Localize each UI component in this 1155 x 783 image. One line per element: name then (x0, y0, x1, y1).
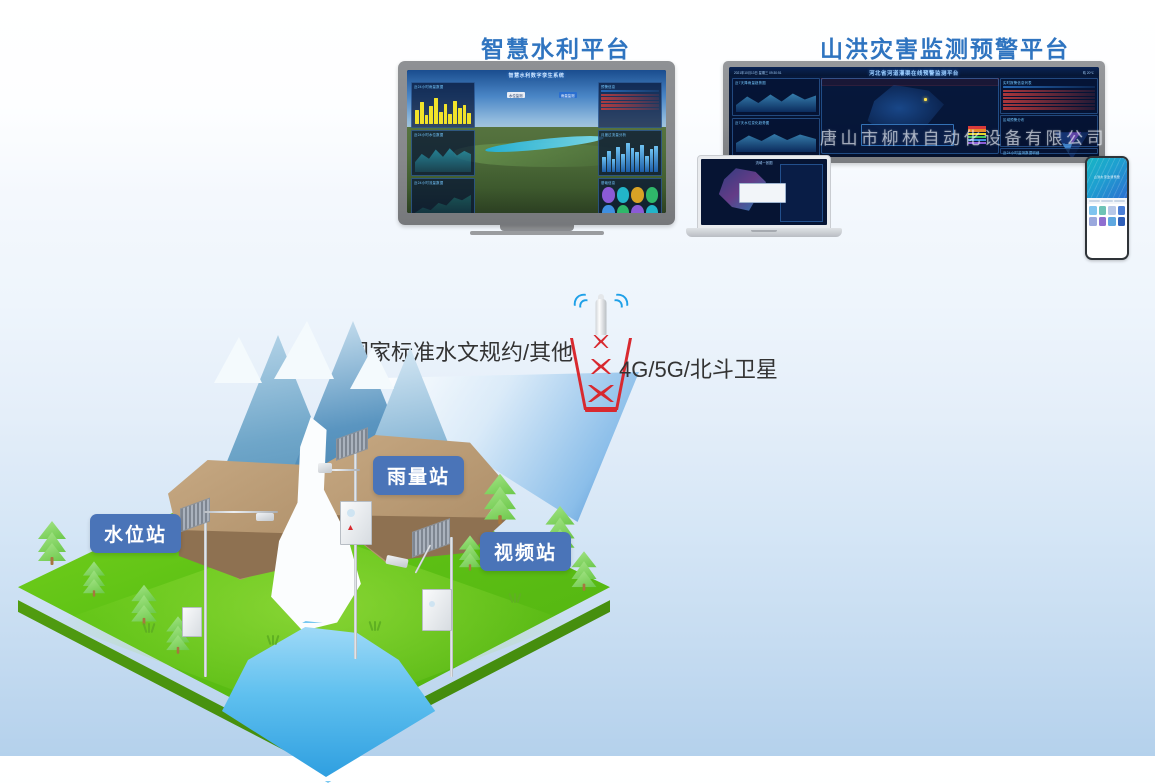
laptop-trackpad-notch (751, 230, 777, 232)
table-row[interactable] (601, 97, 659, 99)
monitor-right: 河北省河道灌渠在线预警监测平台 2021年10月13日 星期三 09:30:51… (723, 61, 1105, 163)
snow-cap-left (214, 337, 262, 383)
panel-waterlevel-24h[interactable]: 近24小时水位数据 (411, 130, 475, 176)
monitor-right-left-column: 近7天降雨量趋势图 近7天水位变化趋势图 (732, 78, 818, 154)
panel-rainfall-24h-title: 近24小时雨量数据 (414, 84, 443, 89)
info-icon-8[interactable] (646, 205, 659, 214)
tree (83, 561, 105, 596)
phone-app-header: 山洪灾害监测预警 (1087, 158, 1127, 198)
carrier-label: 4G/5G/北斗卫星 (619, 352, 778, 384)
panel-level-7d[interactable]: 近7天水位变化趋势图 (732, 118, 820, 156)
level-7d-area-chart (736, 127, 816, 152)
infographic-canvas: 智慧水利平台 山洪灾害监测预警平台 智慧水利数字孪生系统 近24小时雨量数据 (0, 0, 1155, 756)
monitor-left-foot (470, 231, 604, 235)
info-icon-2[interactable] (617, 187, 630, 203)
panel-realtime-alarm-list[interactable]: 实时报警信息列表 (1000, 78, 1098, 114)
monitor-left-screen: 智慧水利数字孪生系统 近24小时雨量数据 近24小时水位数据 近24小时流量 (407, 70, 666, 213)
grass-tuft (144, 623, 156, 633)
page-title-flood-warning: 山洪灾害监测预警平台 (820, 30, 1070, 64)
laptop-lid: 流域一张图 (697, 155, 831, 229)
rain-gauge-cabinet (340, 501, 372, 545)
tree (484, 474, 516, 525)
monitor-right-datetime: 2021年10月13日 星期三 09:30:51 (734, 70, 782, 75)
rain-7d-area-chart (736, 87, 816, 112)
phone-app-icon-4[interactable] (1118, 206, 1126, 215)
laptop-screen: 流域一张图 (701, 159, 827, 225)
phone-app-icon-2[interactable] (1099, 206, 1107, 215)
monitor-right-right-column: 实时报警信息列表 区域预警分布 近24小 (1000, 78, 1096, 154)
scene-tag-water-level[interactable]: 水位监测 (507, 92, 525, 98)
flow-line-chart (415, 187, 471, 213)
isometric-terrain-scene: 水位站 雨量站 视频站 (18, 325, 610, 745)
phone-app-icon-5[interactable] (1089, 217, 1097, 226)
table-row[interactable] (601, 104, 659, 106)
video-station-cabinet (422, 589, 452, 631)
info-icon-5[interactable] (602, 205, 615, 214)
phone-app-icon-3[interactable] (1108, 206, 1116, 215)
panel-warning-distribution-title: 区域预警分布 (1003, 117, 1025, 122)
station-label-water-level[interactable]: 水位站 (90, 514, 181, 553)
monitor-left-screen-title: 智慧水利数字孪生系统 (407, 72, 666, 79)
scene-tag-rainfall[interactable]: 雨量监测 (559, 92, 577, 98)
monitor-left: 智慧水利数字孪生系统 近24小时雨量数据 近24小时水位数据 近24小时流量 (398, 61, 675, 225)
tree (459, 535, 481, 570)
phone-app-icon-6[interactable] (1099, 217, 1107, 226)
table-row[interactable] (1003, 93, 1095, 95)
panel-monitor-detail-24h[interactable]: 近24小时监测数据明细 (1000, 148, 1098, 154)
monitor-right-weather: 晴 20℃ (1083, 70, 1094, 75)
grass-tuft (370, 621, 382, 631)
table-row[interactable] (1003, 104, 1095, 106)
panel-monthly-flow-title: 月度过流量分析 (601, 132, 626, 137)
laptop-dialog[interactable] (739, 183, 786, 203)
info-icon-1[interactable] (602, 187, 615, 203)
basic-info-icon-grid (602, 187, 658, 213)
monthly-flow-bar-chart (602, 139, 658, 172)
table-row[interactable] (1003, 97, 1095, 99)
map-legend (968, 126, 986, 144)
panel-basic-info[interactable]: 基础信息 (598, 178, 662, 213)
panel-gis-map[interactable] (821, 78, 999, 154)
panel-waterlevel-24h-title: 近24小时水位数据 (414, 132, 443, 137)
phone-app-title: 山洪灾害监测预警 (1087, 175, 1127, 179)
table-row[interactable] (1003, 107, 1095, 109)
phone-app-icon-8[interactable] (1118, 217, 1126, 226)
info-icon-6[interactable] (617, 205, 630, 214)
terrain-base: 水位站 雨量站 视频站 (18, 325, 610, 745)
table-row[interactable] (601, 108, 659, 110)
water-level-station-pole (204, 511, 207, 677)
phone-app-icon-7[interactable] (1108, 217, 1116, 226)
monitor-right-screen: 河北省河道灌渠在线预警监测平台 2021年10月13日 星期三 09:30:51… (729, 67, 1099, 157)
panel-warning-distribution[interactable]: 区域预警分布 (1000, 115, 1098, 147)
laptop-device: 流域一张图 (686, 155, 842, 237)
info-icon-3[interactable] (631, 187, 644, 203)
table-row[interactable] (1003, 90, 1095, 92)
table-row[interactable] (601, 94, 659, 96)
panel-monthly-flow[interactable]: 月度过流量分析 (598, 130, 662, 176)
phone-tab-2[interactable] (1101, 200, 1112, 203)
phone-app-icon-1[interactable] (1089, 206, 1097, 215)
panel-alarm-info[interactable]: 预警信息 (598, 82, 662, 128)
panel-rain-7d-title: 近7天降雨量趋势图 (735, 80, 766, 85)
phone-icon-grid (1087, 204, 1127, 228)
panel-basic-info-title: 基础信息 (601, 180, 615, 185)
panel-rainfall-24h[interactable]: 近24小时雨量数据 (411, 82, 475, 128)
phone-tab-1[interactable] (1089, 200, 1100, 203)
table-row[interactable] (601, 101, 659, 103)
rainfall-bar-chart (415, 91, 471, 124)
waterlevel-area-chart (415, 139, 471, 172)
table-header-row (1003, 86, 1095, 88)
grass-tuft (268, 635, 280, 645)
rain-gauge-sensor-icon (318, 463, 332, 473)
tree (38, 521, 66, 565)
panel-level-7d-title: 近7天水位变化趋势图 (735, 120, 769, 125)
table-row[interactable] (1003, 100, 1095, 102)
grass-tuft (510, 593, 522, 603)
alarm-table (601, 90, 659, 125)
monitor-right-screen-title: 河北省河道灌渠在线预警监测平台 (729, 69, 1099, 77)
monitor-left-stand (500, 225, 574, 231)
phone-tab-3[interactable] (1114, 200, 1125, 203)
page-title-smart-water: 智慧水利平台 (481, 30, 631, 64)
table-header-row (601, 90, 659, 92)
video-cabinet-dial-icon (429, 601, 435, 607)
tree (571, 551, 596, 591)
map-detail-popup (861, 124, 955, 145)
cabinet-dial-icon (347, 509, 355, 517)
phone-device: 山洪灾害监测预警 (1085, 156, 1129, 260)
water-level-sensor-icon (256, 513, 274, 521)
info-icon-7[interactable] (631, 205, 644, 214)
info-icon-4[interactable] (646, 187, 659, 203)
panel-alarm-info-title: 预警信息 (601, 84, 615, 89)
realtime-alarm-table (1003, 86, 1095, 111)
panel-realtime-alarm-title: 实时报警信息列表 (1003, 80, 1032, 85)
panel-flow-24h[interactable]: 近24小时流量数据 (411, 178, 475, 213)
water-level-cabinet (182, 607, 202, 637)
panel-monitor-detail-title: 近24小时监测数据明细 (1003, 150, 1040, 155)
laptop-side-panel[interactable] (780, 164, 824, 221)
panel-flow-24h-title: 近24小时流量数据 (414, 180, 443, 185)
tree (131, 585, 157, 625)
panel-rain-7d[interactable]: 近7天降雨量趋势图 (732, 78, 820, 116)
station-label-rain-gauge[interactable]: 雨量站 (373, 456, 464, 495)
phone-screen: 山洪灾害监测预警 (1087, 158, 1127, 258)
station-label-video[interactable]: 视频站 (480, 532, 571, 571)
